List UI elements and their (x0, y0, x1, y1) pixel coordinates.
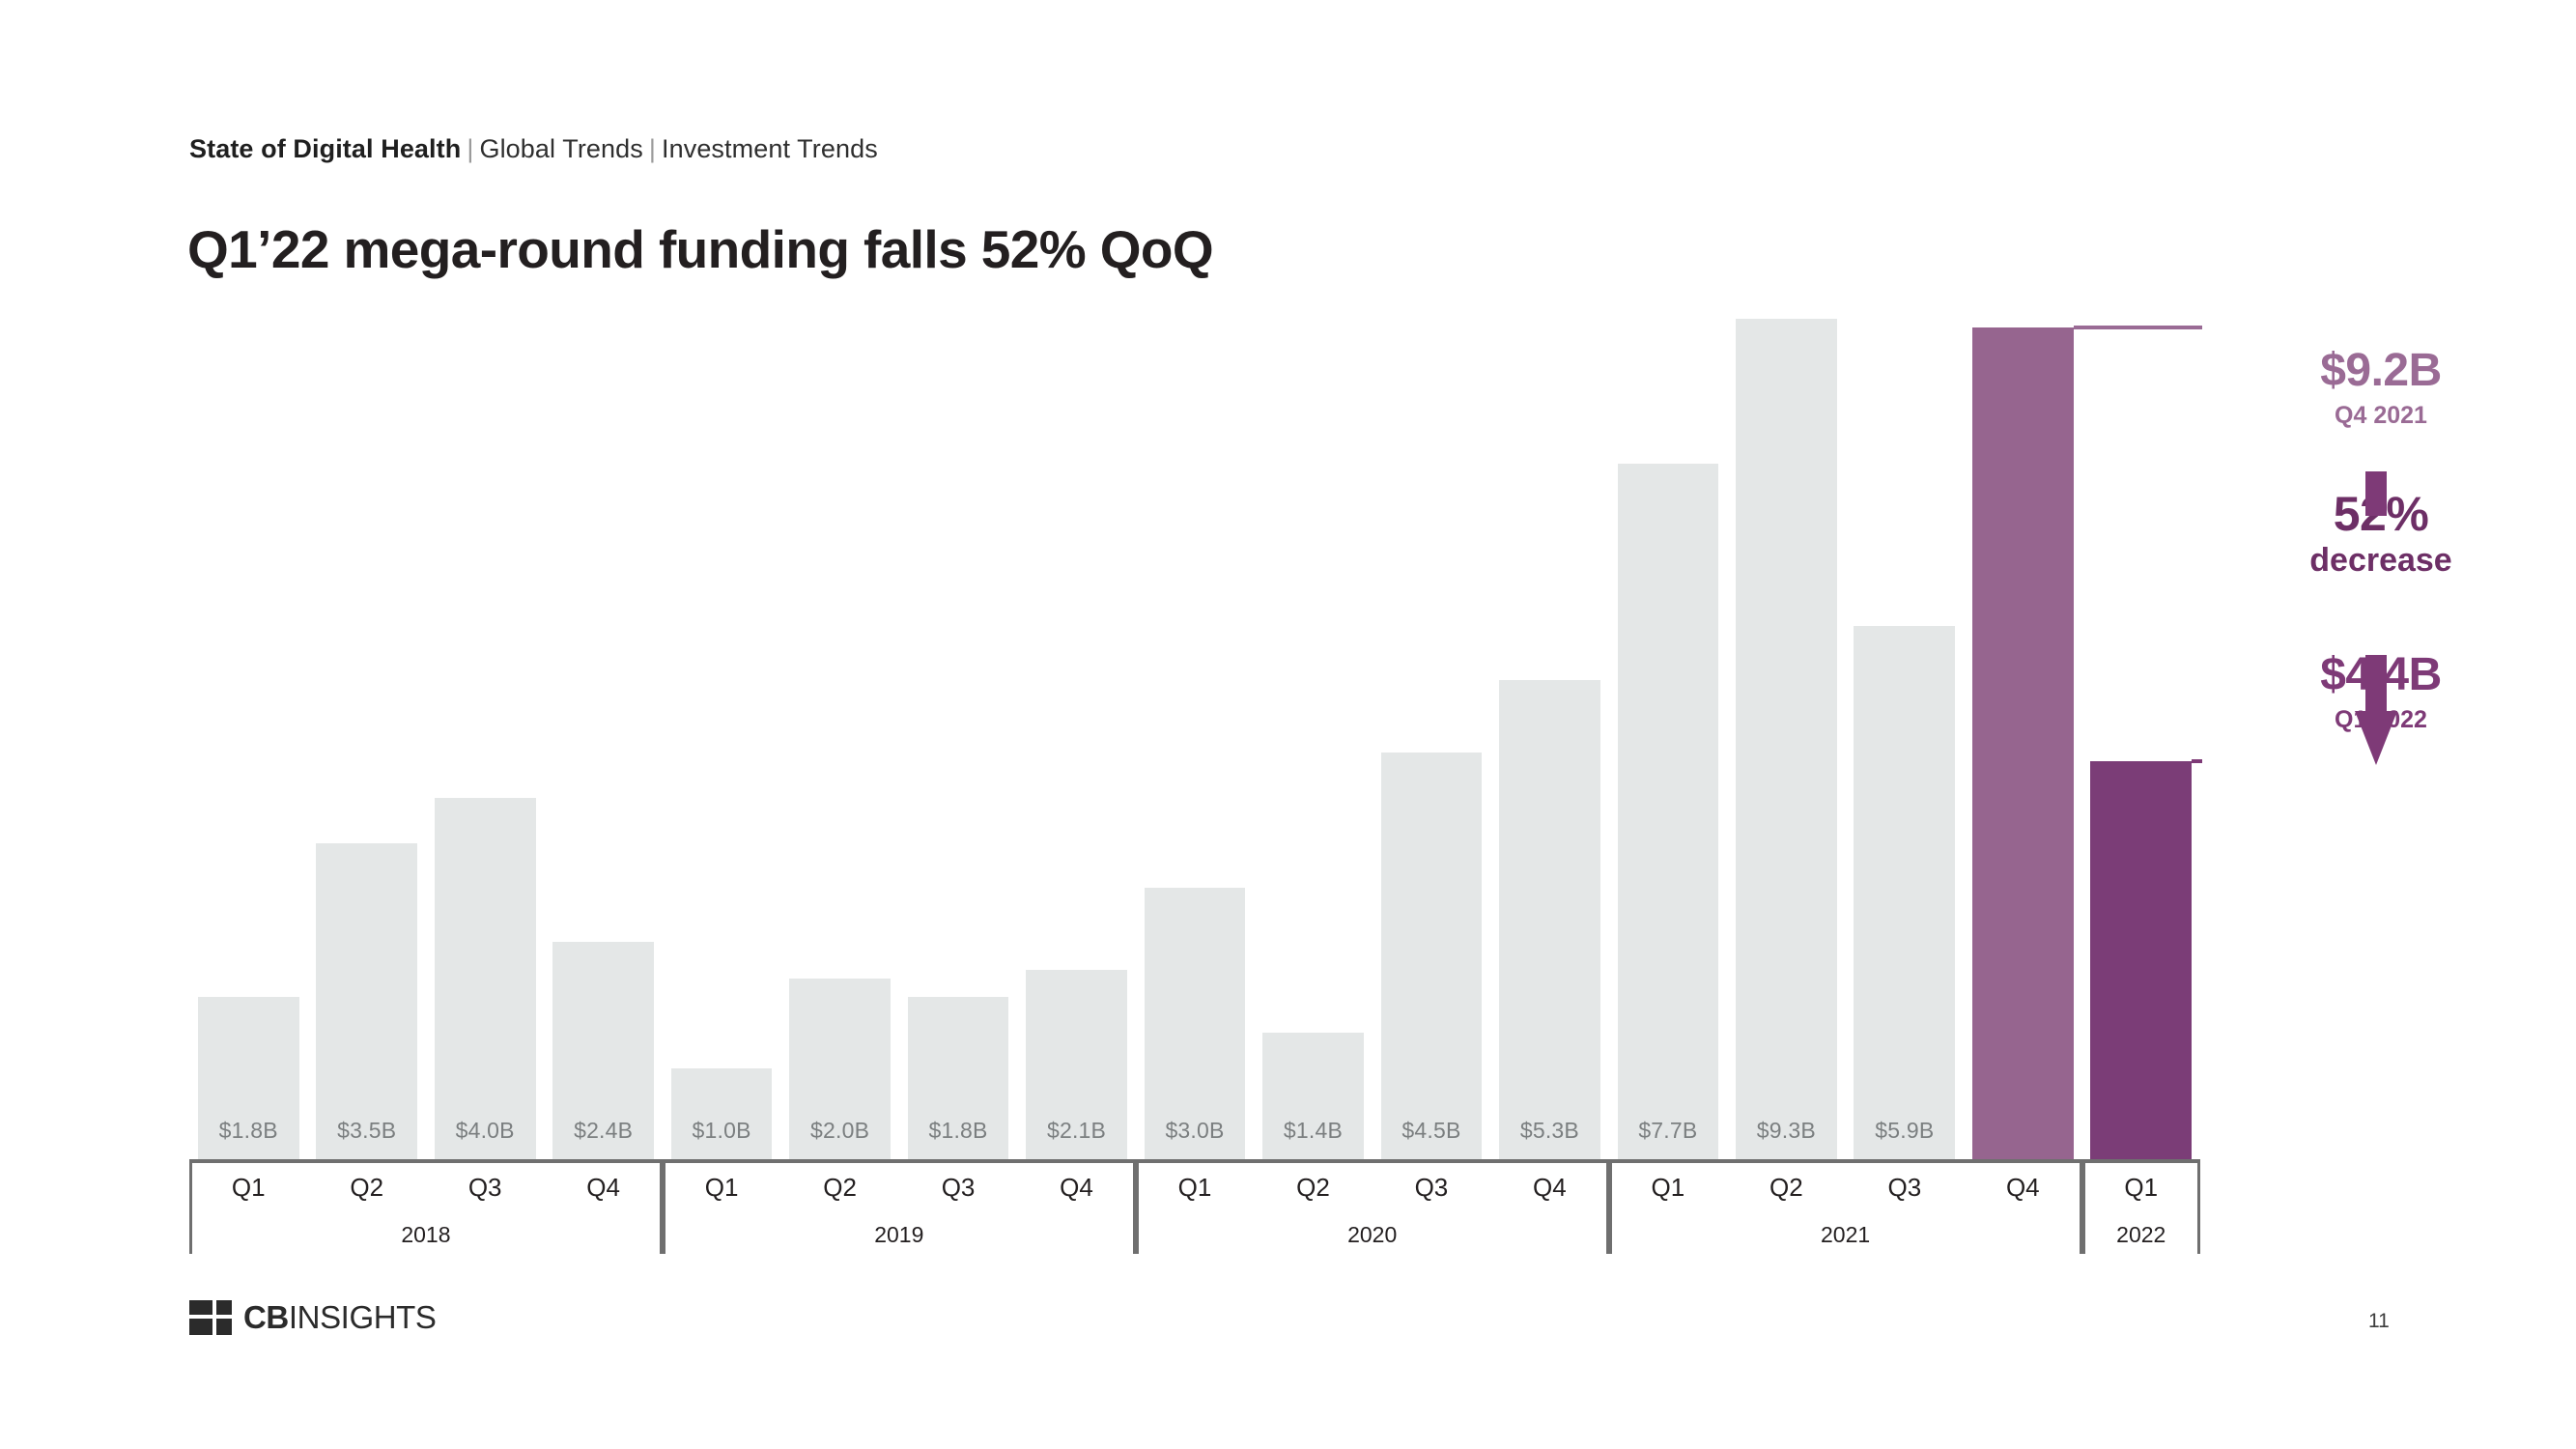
callout-top-value: $9.2B (2222, 348, 2540, 394)
axis-quarter-label: Q1 (1609, 1173, 1727, 1203)
bar-slot: $4.5B (1381, 319, 1483, 1159)
grid-logo-square-top-left (189, 1300, 212, 1315)
bar-value-label: $5.9B (1854, 1118, 1955, 1144)
breadcrumb: State of Digital Health|Global Trends|In… (189, 134, 878, 164)
breadcrumb-secondary: Global Trends (479, 134, 642, 163)
bar-value-label: $3.0B (1145, 1118, 1246, 1144)
bar-slot: $2.0B (789, 319, 891, 1159)
leader-line-q1-2022 (2192, 759, 2202, 763)
arrow-stem (2365, 655, 2387, 717)
axis-year-group: Q1Q2Q3Q42021 (1609, 1159, 2082, 1254)
cbinsights-logo: CBINSIGHTS (189, 1299, 437, 1336)
axis-year-group: Q1Q2Q3Q42018 (189, 1159, 663, 1254)
bar-slot: $4.0B (435, 319, 536, 1159)
axis-year-group: Q1Q2Q3Q42019 (663, 1159, 1136, 1254)
axis-quarter-label: Q4 (1017, 1173, 1135, 1203)
bar-value-label: $1.8B (908, 1118, 1009, 1144)
chart-bar[interactable] (1618, 464, 1719, 1159)
bar-value-label: $1.4B (1262, 1118, 1364, 1144)
chart-bar[interactable] (435, 798, 536, 1159)
axis-year-label: 2020 (1136, 1222, 1609, 1248)
bar-value-label: $9.3B (1736, 1118, 1837, 1144)
bar-value-label: $4.5B (1381, 1118, 1483, 1144)
arrow-head (2355, 711, 2397, 765)
chart-bar[interactable] (316, 843, 417, 1159)
chart-bar[interactable] (1854, 626, 1955, 1159)
bar-slot: $1.4B (1262, 319, 1364, 1159)
bar-slot: $1.0B (671, 319, 773, 1159)
axis-year-label: 2019 (663, 1222, 1136, 1248)
bar-value-label: $3.5B (316, 1118, 417, 1144)
axis-quarter-label: Q3 (899, 1173, 1017, 1203)
bar-value-label: $1.0B (671, 1118, 773, 1144)
page-title: Q1’22 mega-round funding falls 52% QoQ (187, 218, 1213, 280)
down-arrow-icon (2355, 655, 2397, 765)
bar-slot (1972, 319, 2074, 1159)
bar-slot: $2.4B (552, 319, 654, 1159)
page-number: 11 (2368, 1310, 2390, 1333)
arrow-stub-icon (2365, 471, 2387, 516)
chart-bar[interactable] (1736, 319, 1837, 1159)
axis-year-group: Q1Q2Q3Q42020 (1136, 1159, 1609, 1254)
chart-bar[interactable] (1381, 753, 1483, 1159)
axis-year-label: 2022 (2082, 1222, 2200, 1248)
axis-year-group: Q12022 (2082, 1159, 2200, 1254)
bar-slot: $5.9B (1854, 319, 1955, 1159)
chart-bar[interactable] (671, 1068, 773, 1159)
bar-slot: $5.3B (1499, 319, 1600, 1159)
axis-quarter-label: Q2 (780, 1173, 898, 1203)
axis-quarter-label: Q3 (426, 1173, 544, 1203)
axis-quarter-label: Q2 (1254, 1173, 1372, 1203)
chart-bar[interactable] (1972, 327, 2074, 1159)
bar-value-label: $5.3B (1499, 1118, 1600, 1144)
bar-value-label: $4.0B (435, 1118, 536, 1144)
axis-quarter-label: Q2 (307, 1173, 425, 1203)
axis-year-label: 2018 (189, 1222, 663, 1248)
bar-chart-plot-area: $1.8B$3.5B$4.0B$2.4B$1.0B$2.0B$1.8B$2.1B… (189, 319, 2200, 1159)
axis-quarter-label: Q4 (1490, 1173, 1608, 1203)
breadcrumb-tertiary: Investment Trends (662, 134, 878, 163)
axis-quarter-label: Q2 (1727, 1173, 1845, 1203)
chart-bar[interactable] (1499, 680, 1600, 1159)
bar-value-label: $7.7B (1618, 1118, 1719, 1144)
callout-change-word: decrease (2222, 544, 2540, 577)
logo-insights: INSIGHTS (289, 1299, 437, 1335)
grid-logo-square-bottom-right (216, 1319, 232, 1335)
leader-line-q4-2021 (2074, 326, 2202, 329)
bar-value-label: $1.8B (198, 1118, 299, 1144)
chart-bar[interactable] (2090, 761, 2192, 1159)
grid-logo-icon (189, 1300, 232, 1335)
axis-quarter-label: Q3 (1846, 1173, 1964, 1203)
bar-slot: $1.8B (198, 319, 299, 1159)
callout-top-label: Q4 2021 (2222, 402, 2540, 430)
grid-logo-square-top-right (216, 1300, 232, 1315)
bar-slot: $1.8B (908, 319, 1009, 1159)
bar-slot: $3.5B (316, 319, 417, 1159)
bar-value-label: $2.1B (1026, 1118, 1127, 1144)
bar-slot (2090, 319, 2192, 1159)
axis-quarter-label: Q1 (1136, 1173, 1254, 1203)
bar-slot: $3.0B (1145, 319, 1246, 1159)
breadcrumb-separator-1: | (461, 134, 479, 163)
axis-quarter-label: Q1 (663, 1173, 780, 1203)
breadcrumb-separator-2: | (643, 134, 662, 163)
logo-cb: CB (243, 1299, 289, 1335)
axis-year-label: 2021 (1609, 1222, 2082, 1248)
bar-slot: $7.7B (1618, 319, 1719, 1159)
grid-logo-square-bottom-left (189, 1319, 212, 1335)
bar-value-label: $2.4B (552, 1118, 654, 1144)
breadcrumb-primary: State of Digital Health (189, 134, 461, 163)
axis-quarter-label: Q1 (2082, 1173, 2200, 1203)
bar-slot: $2.1B (1026, 319, 1127, 1159)
slide-root: State of Digital Health|Global Trends|In… (0, 0, 2576, 1449)
axis-quarter-label: Q3 (1373, 1173, 1490, 1203)
axis-quarter-label: Q1 (189, 1173, 307, 1203)
logo-wordmark: CBINSIGHTS (243, 1299, 437, 1336)
axis-quarter-label: Q4 (544, 1173, 662, 1203)
bar-value-label: $2.0B (789, 1118, 891, 1144)
axis-quarter-label: Q4 (1964, 1173, 2081, 1203)
bar-slot: $9.3B (1736, 319, 1837, 1159)
